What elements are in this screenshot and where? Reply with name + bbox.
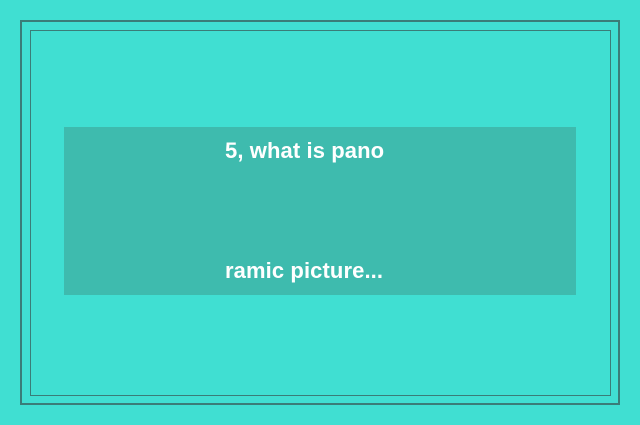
- caption-line-2: ramic picture...: [225, 251, 415, 291]
- caption-panel: 5, what is pano ramic picture...: [64, 127, 576, 295]
- caption-text-block: 5, what is pano ramic picture...: [225, 51, 415, 371]
- caption-line-1: 5, what is pano: [225, 131, 415, 171]
- placeholder-image-canvas: 5, what is pano ramic picture...: [0, 0, 640, 425]
